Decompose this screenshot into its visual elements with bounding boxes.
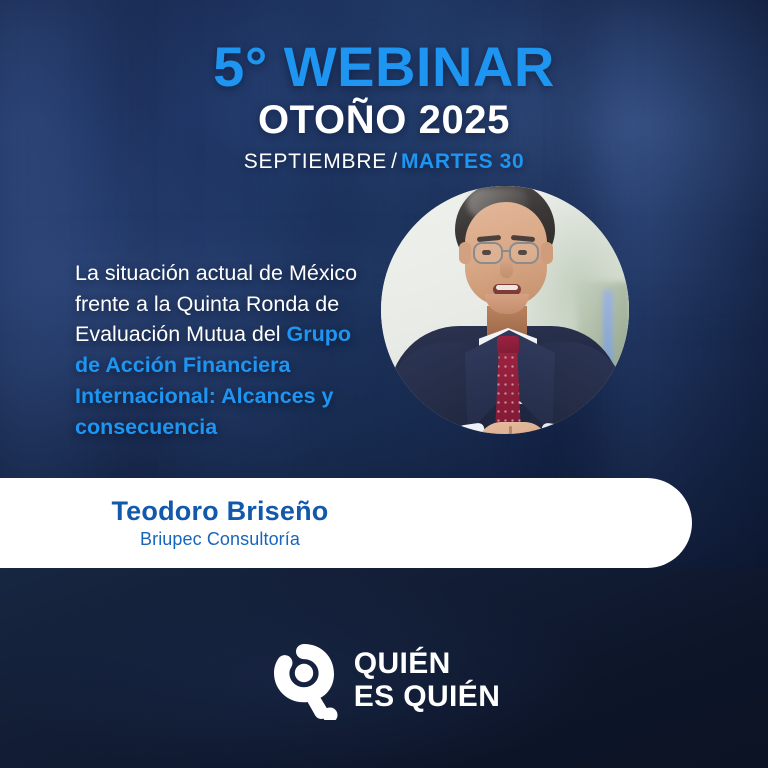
portrait-face	[496, 285, 518, 290]
portrait-disc	[381, 186, 629, 434]
webinar-poster: 5° WEBINAR OTOÑO 2025 SEPTIEMBRE/MARTES …	[0, 0, 768, 768]
portrait-tie	[497, 336, 519, 355]
speaker-name: Teodoro Briseño	[111, 496, 328, 527]
portrait-face	[459, 242, 471, 264]
date-separator: /	[391, 150, 397, 173]
speaker-name-band: Teodoro Briseño Briupec Consultoría	[0, 478, 692, 568]
webinar-number-title: 5° WEBINAR	[0, 38, 768, 95]
header: 5° WEBINAR OTOÑO 2025 SEPTIEMBRE/MARTES …	[0, 0, 768, 173]
portrait-hands	[509, 426, 512, 434]
webinar-topic-title: La situación actual de México frente a l…	[75, 258, 375, 442]
portrait-glasses	[473, 242, 503, 264]
portrait-glasses	[502, 250, 510, 252]
portrait-glasses	[509, 242, 539, 264]
speaker-organization: Briupec Consultoría	[140, 529, 300, 550]
date-month: SEPTIEMBRE	[244, 150, 387, 173]
speaker-portrait	[381, 186, 629, 434]
logo-line-1: QUIÉN	[354, 649, 501, 679]
logo-line-2: ES QUIÉN	[354, 682, 501, 712]
portrait-face	[541, 242, 553, 264]
brand-logo: QUIÉN ES QUIÉN	[0, 640, 768, 720]
speaker-name-band-content: Teodoro Briseño Briupec Consultoría	[0, 478, 440, 568]
season-title: OTOÑO 2025	[0, 99, 768, 141]
quien-q-icon	[268, 640, 340, 720]
date-day: MARTES 30	[401, 150, 524, 173]
portrait-face	[500, 260, 513, 278]
date-line: SEPTIEMBRE/MARTES 30	[0, 150, 768, 173]
logo-wordmark: QUIÉN ES QUIÉN	[354, 649, 501, 712]
